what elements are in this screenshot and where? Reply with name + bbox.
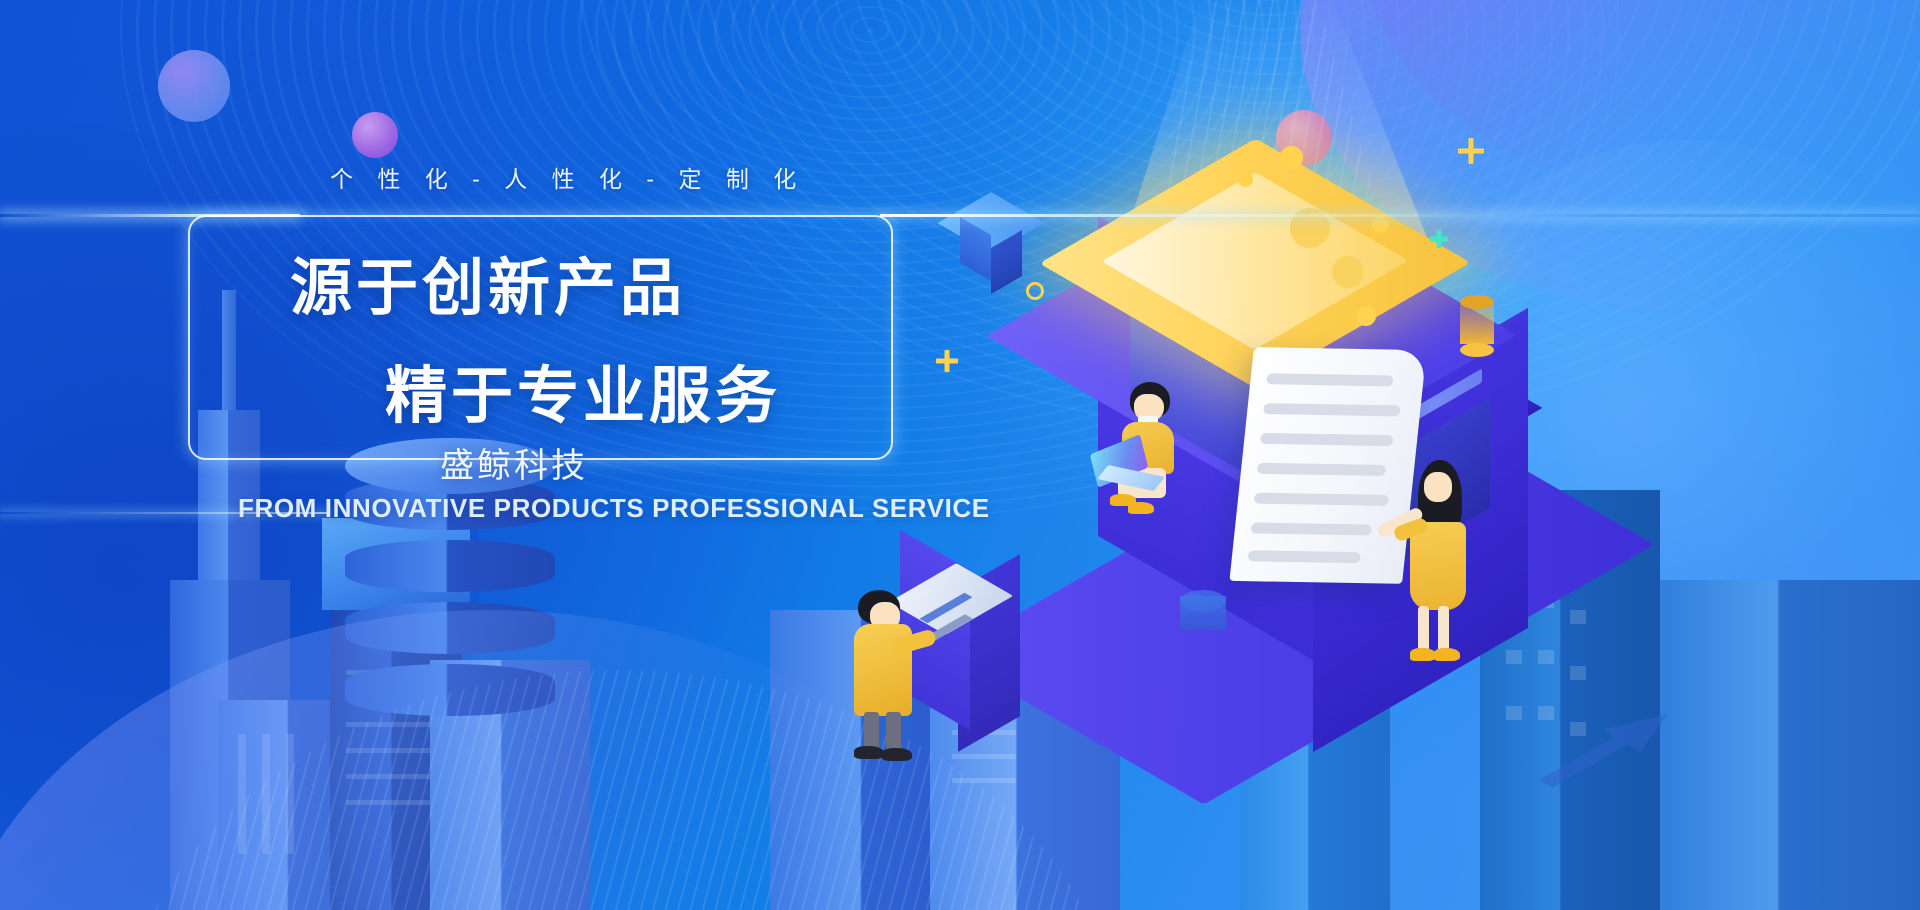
isometric-illustration: [980, 120, 1920, 910]
face: [1424, 472, 1452, 502]
yellow-dot: [1356, 306, 1376, 326]
frame-glow-line-right: [880, 214, 1920, 217]
blue-cylinder: [1180, 596, 1226, 630]
yellow-plus-icon: [1458, 138, 1484, 164]
leg: [1418, 606, 1429, 654]
yellow-cylinder: [1460, 302, 1494, 350]
headline-line-2: 精于专业服务: [385, 345, 781, 435]
shoe: [1410, 648, 1436, 661]
yellow-dot: [1372, 216, 1389, 233]
arrow-shadow: [1519, 698, 1691, 797]
standing-woman-reaching-receipt: [1398, 460, 1476, 660]
english-tagline: FROM INNOVATIVE PRODUCTS PROFESSIONAL SE…: [238, 493, 990, 524]
hero-banner: 个 性 化 - 人 性 化 - 定 制 化 源于创新产品 精于专业服务 盛鲸科技…: [0, 0, 1920, 910]
yellow-dot: [1280, 146, 1303, 169]
leg: [1438, 606, 1449, 654]
yellow-ring: [1026, 282, 1044, 300]
shoe: [1434, 648, 1460, 661]
seated-woman-with-laptop: [1108, 382, 1198, 522]
yellow-dot: [1238, 172, 1253, 187]
brand-name: 盛鲸科技: [440, 438, 588, 487]
banner-text-block: 个 性 化 - 人 性 化 - 定 制 化 源于创新产品 精于专业服务 盛鲸科技…: [0, 0, 1000, 910]
shoe: [1128, 502, 1154, 514]
headline-line-1: 源于创新产品: [290, 237, 686, 327]
yellow-dot: [1332, 256, 1364, 288]
dress: [1410, 522, 1466, 610]
cyan-plus-icon: [1430, 230, 1448, 248]
eyebrow-tagline: 个 性 化 - 人 性 化 - 定 制 化: [330, 160, 805, 194]
